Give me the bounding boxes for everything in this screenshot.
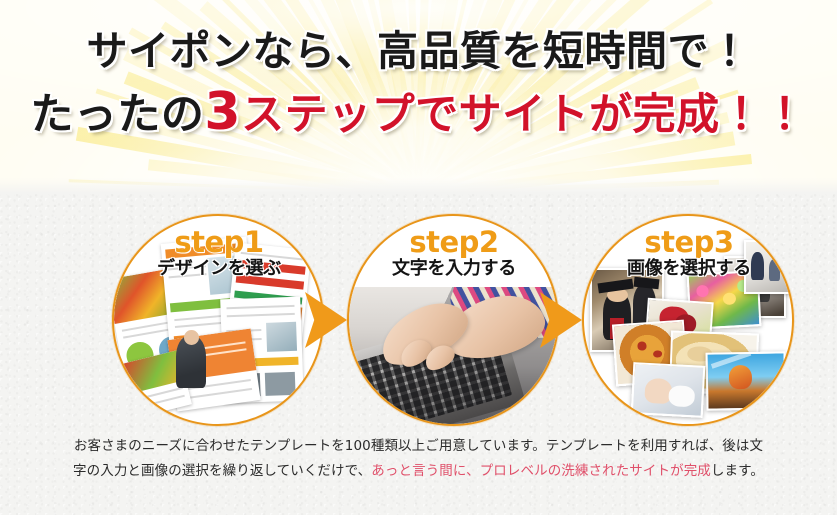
caption-block: お客さまのニーズに合わせたテンプレートを100種類以上ご用意しています。テンプレ… xyxy=(0,434,837,484)
step-2-circle xyxy=(347,214,559,426)
hero-banner: サイポンなら、高品質を短時間で！ たったの3ステップでサイトが完成！！ xyxy=(0,0,837,194)
caption-line-2-part-b: します。 xyxy=(711,463,764,479)
photo-collage xyxy=(584,216,792,424)
arrow-step2-to-step3-icon xyxy=(540,292,582,348)
step-3-circle xyxy=(582,214,794,426)
flyer-person-head xyxy=(184,330,199,345)
step-card-1[interactable]: step1 デザインを選ぶ xyxy=(112,214,326,426)
photo-family xyxy=(744,240,792,294)
arrow-step1-to-step2-icon xyxy=(305,292,347,348)
caption-line-2-part-a: 字の入力と画像の選択を繰り返していくだけで、 xyxy=(73,463,371,479)
step-card-3[interactable]: step3 画像を選択する xyxy=(582,214,796,426)
step-card-2[interactable]: step2 文字を入力する xyxy=(347,214,561,426)
step-1-circle xyxy=(112,214,324,426)
headline-step-count: 3 xyxy=(204,82,241,142)
headline-line-2-black: たったの xyxy=(30,90,204,140)
photo-hot-air-balloon xyxy=(706,351,787,410)
hero-headline-group: サイポンなら、高品質を短時間で！ たったの3ステップでサイトが完成！！ xyxy=(0,28,837,143)
step-2-image xyxy=(349,216,557,424)
photo-baby xyxy=(631,362,706,418)
caption-line-1: お客さまのニーズに合わせたテンプレートを100種類以上ご用意しています。テンプレ… xyxy=(0,434,837,459)
template-collage xyxy=(114,216,322,424)
step-3-image xyxy=(584,216,792,424)
headline-line-2-red: ステップでサイトが完成！！ xyxy=(241,90,807,140)
caption-line-2-highlight: あっと言う間に、プロレベルの洗練されたサイトが完成 xyxy=(371,463,711,479)
typing-photo xyxy=(349,287,557,424)
step-1-image xyxy=(114,216,322,424)
hero-bottom-fade xyxy=(0,178,837,194)
page-root: サイポンなら、高品質を短時間で！ たったの3ステップでサイトが完成！！ xyxy=(0,0,837,515)
headline-line-1: サイポンなら、高品質を短時間で！ xyxy=(0,28,837,76)
steps-row: step1 デザインを選ぶ xyxy=(0,214,837,426)
headline-line-2: たったの3ステップでサイトが完成！！ xyxy=(0,82,837,143)
caption-line-2: 字の入力と画像の選択を繰り返していくだけで、あっと言う間に、プロレベルの洗練され… xyxy=(0,459,837,484)
